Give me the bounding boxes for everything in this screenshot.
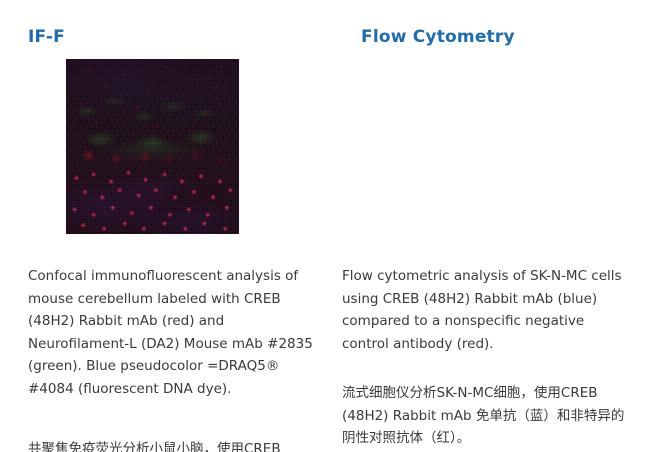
- if-f-caption-chinese-truncated: 共聚焦免疫荧光分析小鼠小脑，使用CREB: [28, 438, 318, 452]
- comparison-figure-page: IF-F Confocal immunofluorescent analysis…: [0, 0, 666, 452]
- confocal-micrograph-image: [66, 59, 239, 234]
- flow-caption-english: Flow cytometric analysis of SK-N-MC cell…: [342, 265, 627, 355]
- panel-flow-cytometry: Flow Cytometry Events CREB (48H2) Flo: [333, 0, 666, 452]
- panel-heading-if-f: IF-F: [28, 27, 65, 47]
- flow-caption-chinese: 流式细胞仪分析SK-N-MC细胞，使用CREB (48H2) Rabbit mA…: [342, 382, 627, 450]
- if-f-caption-english: Confocal immunofluorescent analysis of m…: [28, 265, 313, 400]
- panel-if-f: IF-F Confocal immunofluorescent analysis…: [0, 0, 333, 452]
- micrograph-noise-overlay: [66, 59, 239, 234]
- panel-heading-flow-cytometry: Flow Cytometry: [361, 27, 515, 47]
